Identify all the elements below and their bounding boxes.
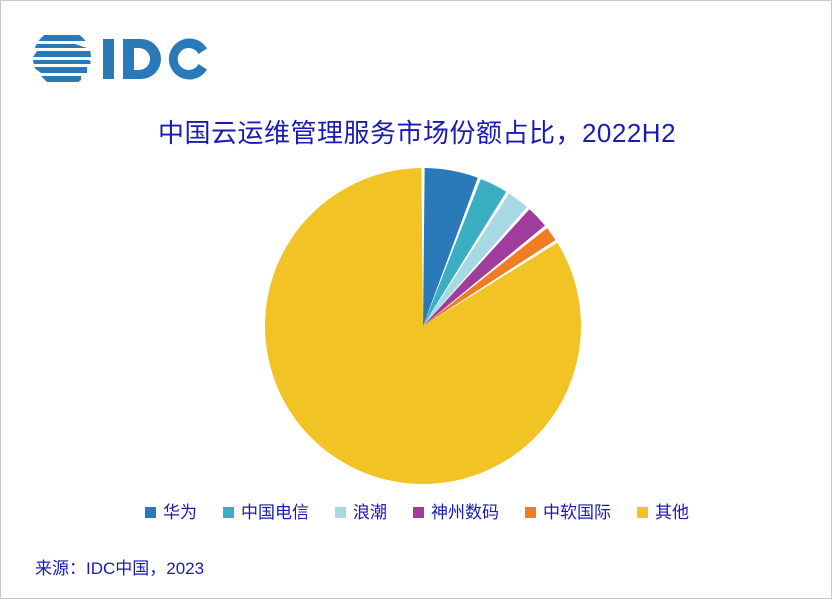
legend-swatch-icon bbox=[145, 507, 156, 518]
legend-swatch-icon bbox=[637, 507, 648, 518]
legend-label: 浪潮 bbox=[353, 504, 387, 521]
legend-swatch-icon bbox=[413, 507, 424, 518]
legend-item[interactable]: 中国电信 bbox=[223, 504, 309, 521]
pie-chart-area bbox=[1, 166, 832, 486]
idc-wordmark bbox=[103, 39, 207, 80]
legend-label: 华为 bbox=[163, 504, 197, 521]
chart-title: 中国云运维管理服务市场份额占比，2022H2 bbox=[1, 113, 832, 150]
source-note: 来源：IDC中国，2023 bbox=[35, 554, 204, 579]
legend-label: 其他 bbox=[655, 504, 689, 521]
legend-label: 中软国际 bbox=[543, 504, 611, 521]
legend-label: 神州数码 bbox=[431, 504, 499, 521]
legend-label: 中国电信 bbox=[241, 504, 309, 521]
legend-item[interactable]: 华为 bbox=[145, 504, 197, 521]
legend-item[interactable]: 中软国际 bbox=[525, 504, 611, 521]
pie-chart bbox=[263, 166, 583, 486]
chart-page: 中国云运维管理服务市场份额占比，2022H2 华为中国电信浪潮神州数码中软国际其… bbox=[0, 0, 832, 599]
legend-swatch-icon bbox=[525, 507, 536, 518]
legend-swatch-icon bbox=[335, 507, 346, 518]
pie-slices bbox=[265, 168, 581, 484]
idc-logo bbox=[31, 27, 231, 89]
legend-item[interactable]: 其他 bbox=[637, 504, 689, 521]
legend-item[interactable]: 神州数码 bbox=[413, 504, 499, 521]
idc-logo-svg bbox=[31, 27, 231, 89]
legend-swatch-icon bbox=[223, 507, 234, 518]
chart-legend: 华为中国电信浪潮神州数码中软国际其他 bbox=[1, 504, 832, 521]
legend-item[interactable]: 浪潮 bbox=[335, 504, 387, 521]
globe-icon bbox=[31, 35, 95, 82]
